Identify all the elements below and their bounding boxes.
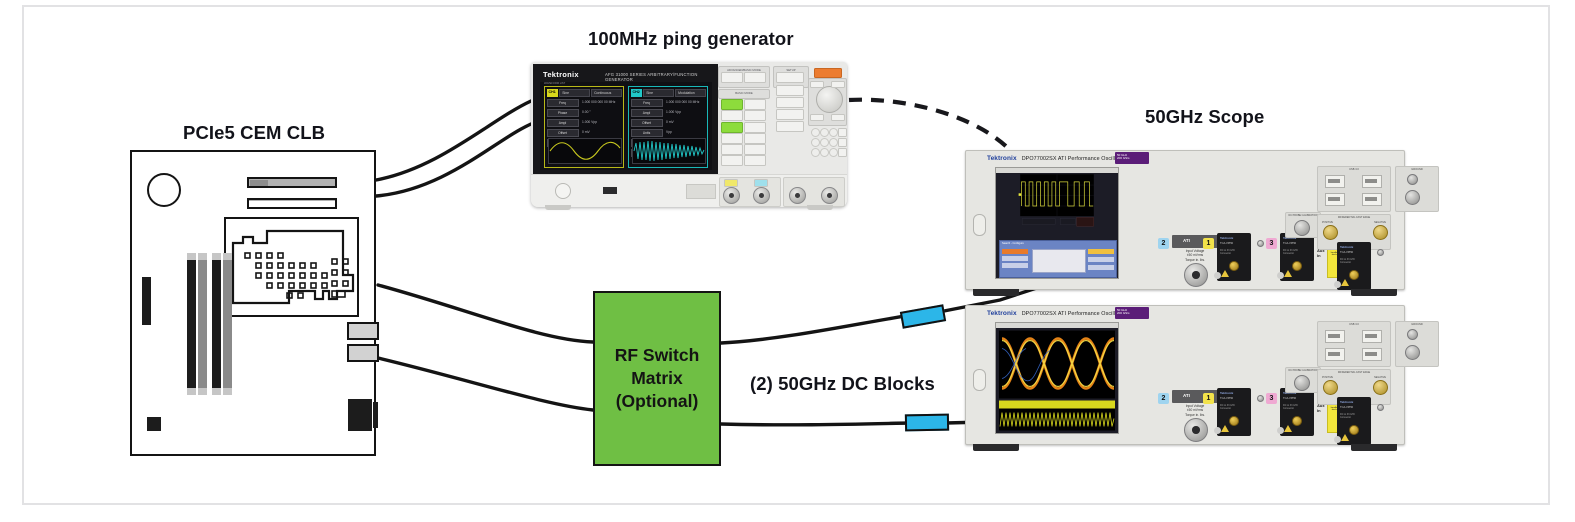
dc-block-lower (905, 414, 949, 432)
afg-button-help[interactable] (776, 121, 804, 132)
afg-button-amplitude[interactable] (744, 155, 766, 166)
scope-lower-probe-ch3[interactable]: TektronixTCA-VPI50 DC to 33 GHzConnector (1280, 388, 1314, 436)
afg-ch2-offset-value[interactable]: 0 mV (664, 119, 706, 127)
scope-upper-dc-probe-cal-label: DC PROBE CALIBRATION (1286, 214, 1320, 217)
scope-upper-fast-edge-negative-jack[interactable] (1373, 225, 1388, 240)
afg-button-continuous[interactable] (721, 99, 743, 110)
afg-screen[interactable]: WAVEFORM LIST CH1 Sine Continuous Freq1.… (540, 82, 712, 170)
chip-die-pads (231, 227, 355, 311)
afg-button-route-off[interactable] (776, 97, 804, 108)
afg-button-knob-dn-right[interactable] (831, 114, 845, 121)
afg-button-square[interactable] (744, 122, 766, 133)
afg-button-pulse[interactable] (744, 133, 766, 144)
afg-keypad-1[interactable] (811, 128, 820, 137)
scope-lower-fast-edge-positive-label: POSITIVE (1322, 376, 1333, 379)
afg-foot-left (545, 205, 571, 210)
afg-group-basic-mode-label: BASIC MODE (719, 91, 769, 95)
scope-lower-usb-label: USB 3.0 (1318, 323, 1390, 326)
afg-ch2-units-value[interactable]: Vpp (664, 129, 706, 137)
scope-upper-probe-ch3[interactable]: TektronixTCA-VPI50 DC to 33 GHzConnector (1280, 233, 1314, 281)
chip-outline (224, 217, 359, 317)
scope-lower-brand: Tektronix (987, 310, 1017, 317)
scope-upper[interactable]: Tektronix DPO77002SX ATI Performance Osc… (965, 150, 1405, 290)
scope-upper-probe-aux[interactable]: TektronixTCA-VPI50 DC to 33 GHzConnector (1337, 242, 1371, 290)
scope-lower-fast-edge-positive-jack[interactable] (1323, 380, 1338, 395)
scope-upper-ati-label: ATI (1183, 238, 1190, 243)
scope-lower-channel-3-marker[interactable]: 3 (1266, 393, 1277, 404)
scope-upper-ground-group: GROUND (1395, 166, 1439, 212)
afg-ch2-waveform-preview (632, 138, 706, 164)
scope-upper-dot-1 (1257, 240, 1264, 247)
afg-keypad-5[interactable] (820, 138, 829, 147)
scope-lower-probe-ch1[interactable]: TektronixTCA-VPI50 DC to 33 GHzConnector (1217, 388, 1251, 436)
scope-upper-setup-dialog[interactable]: Search - Configure (999, 240, 1117, 278)
scope-upper-probe-ch1[interactable]: TektronixTCA-VPI50 DC to 33 GHzConnector (1217, 233, 1251, 281)
cable-rf-to-scope-upper (721, 316, 905, 343)
afg-ch1-offset-key: Offset (547, 129, 579, 137)
afg-button-trigger[interactable] (814, 68, 842, 78)
edge-connector-left (142, 277, 151, 325)
afg-ch1-freq-value[interactable]: 1.000 000 000 00 MHz (580, 99, 622, 107)
dimm-module-1 (187, 260, 196, 388)
rf-switch-line2: Matrix (631, 367, 683, 390)
afg-group-basic-mode: BASIC MODE (718, 89, 770, 99)
scope-upper-ground-jack-1[interactable] (1407, 174, 1418, 185)
afg-ch2-freq-key: Freq (631, 99, 663, 107)
scope-lower-ground-group: GROUND (1395, 321, 1439, 367)
afg-button-back[interactable] (838, 138, 847, 147)
scope-upper-usb-group: USB 3.0 (1317, 166, 1391, 212)
scope-upper-brand: Tektronix (987, 155, 1017, 162)
rf-switch-matrix-box[interactable]: RF Switch Matrix (Optional) (593, 291, 721, 466)
scope-upper-usb-port-2[interactable] (1362, 175, 1382, 188)
afg-keypad-7[interactable] (811, 148, 820, 157)
scope-lower-ati-caption: Input Voltage ±50 mVrms Torque in. lbs. (1172, 404, 1218, 417)
scope-lower-aux-in-label: AuxIn (1317, 404, 1325, 414)
afg-ch2-ampl-value[interactable]: 1.000 Vpp (664, 109, 706, 117)
afg-display-bezel: Tektronix AFG 31000 SERIES ARBITRARY/FUN… (533, 64, 718, 174)
afg-ch2-ampl-key: Ampl (631, 109, 663, 117)
cable-rf-to-scope-lower (721, 423, 908, 425)
afg-channel-2-panel[interactable]: CH2 Sine Modulation Freq1.000 000 000 00… (628, 86, 708, 168)
afg-keypad-6[interactable] (829, 138, 838, 147)
scope-upper-fast-edge-negative-label: NEGATIVE (1374, 221, 1386, 224)
afg-button-sine[interactable] (721, 122, 743, 133)
afg-ch1-offset-value[interactable]: 0 mV (580, 129, 622, 137)
afg-button-knob-up-right[interactable] (831, 81, 845, 88)
afg-button-knob-up-left[interactable] (810, 81, 824, 88)
scope-upper-usb-label: USB 3.0 (1318, 168, 1390, 171)
scope-upper-fast-edge-positive-jack[interactable] (1323, 225, 1338, 240)
afg-model-label: AFG 31000 SERIES ARBITRARY/FUNCTION GENE… (605, 72, 718, 82)
scope-lower-power-button[interactable] (973, 369, 986, 391)
afg-usb-port[interactable] (603, 187, 617, 194)
sma-port-1[interactable] (347, 322, 379, 340)
sma-port-2[interactable] (347, 344, 379, 362)
scope-lower-ati-line3: Torque in. lbs. (1185, 413, 1205, 417)
afg-button-run[interactable] (744, 72, 766, 83)
afg-ch2-tag: CH2 (631, 89, 642, 97)
scope-lower-header: Tektronix DPO77002SX ATI Performance Osc… (987, 308, 1133, 319)
dimm-module-3 (212, 260, 221, 388)
scope-upper-usb-port-3[interactable] (1325, 193, 1345, 206)
afg-channel-1-panel[interactable]: CH1 Sine Continuous Freq1.000 000 000 00… (544, 86, 624, 168)
rf-switch-line3: (Optional) (616, 390, 699, 413)
afg-power-button[interactable] (555, 183, 571, 199)
component-square (147, 417, 161, 431)
scope-lower-channel-2-marker[interactable]: 2 (1158, 393, 1169, 404)
scope-lower-usb-port-1[interactable] (1325, 330, 1345, 343)
afg-ch1-function[interactable]: Sine (559, 89, 589, 97)
scope-lower-dc-probe-cal-label: DC PROBE CALIBRATION (1286, 369, 1320, 372)
afg-brand-label: Tektronix (543, 70, 579, 79)
scope-upper-power-button[interactable] (973, 214, 986, 236)
rf-switch-line1: RF Switch (615, 344, 700, 367)
scope-upper-ati-line3: Torque in. lbs. (1185, 258, 1205, 262)
afg-button-utility[interactable] (776, 109, 804, 120)
afg-keypad-8[interactable] (820, 148, 829, 157)
rear-io-block (348, 399, 372, 431)
scope-lower-dc-probe-cal-jack[interactable] (1294, 375, 1310, 391)
afg-button-trigger-basic[interactable] (721, 155, 743, 166)
scope-lower-fast-edge-negative-jack[interactable] (1373, 380, 1388, 395)
scope-upper-ati-input-connector[interactable] (1184, 263, 1208, 287)
cable-clb-to-afg-ch2 (376, 124, 531, 196)
afg-foot-right (807, 205, 833, 210)
afg-button-noise[interactable] (744, 144, 766, 155)
afg-ch1-mode[interactable]: Continuous (591, 89, 621, 97)
scope-lower-ground-label: GROUND (1396, 323, 1438, 326)
scope-lower-dot-1 (1257, 395, 1264, 402)
cable-clb-to-rf-2 (378, 358, 593, 410)
scope-upper-channel-2-marker[interactable]: 2 (1158, 238, 1169, 249)
scope-upper-aux-in-label: AuxIn (1317, 249, 1325, 259)
scope-upper-waveform (996, 173, 1118, 239)
scope-upper-dot-3 (1377, 249, 1384, 256)
afg-button-burst[interactable] (744, 110, 766, 121)
afg-model-plate (686, 184, 716, 199)
scope-lower-usb-port-2[interactable] (1362, 330, 1382, 343)
scope-upper-ati-caption: Input Voltage ±50 mVrms Torque in. lbs. (1172, 249, 1218, 262)
afg-bnc-ext-trig-in[interactable] (789, 187, 806, 204)
afg-ch1-output-enable[interactable] (724, 179, 738, 187)
scope-upper-ground-label: GROUND (1396, 168, 1438, 171)
scope-upper-display[interactable]: Search - Configure (995, 167, 1119, 279)
scope-lower-foot-left (973, 444, 1019, 451)
afg-ch2-function[interactable]: Sine (643, 89, 673, 97)
afg-keypad-3[interactable] (829, 128, 838, 137)
scope-upper-fast-edge-label: DIFFERENTIAL FAST EDGE (1318, 216, 1390, 219)
afg-button-sweep[interactable] (721, 110, 743, 121)
scope-upper-header: Tektronix DPO77002SX ATI Performance Osc… (987, 153, 1133, 164)
scope-upper-dc-probe-cal-jack[interactable] (1294, 220, 1310, 236)
afg-31000-function-generator[interactable]: Tektronix AFG 31000 SERIES ARBITRARY/FUN… (531, 62, 847, 207)
dimm-module-4 (223, 260, 232, 388)
scope-upper-fast-edge-positive-label: POSITIVE (1322, 221, 1333, 224)
scope-lower-channel-1-marker[interactable]: 1 (1203, 393, 1214, 404)
scope-lower-display[interactable] (995, 322, 1119, 434)
scope-upper-channel-1-marker[interactable]: 1 (1203, 238, 1214, 249)
scope-upper-channel-3-marker[interactable]: 3 (1266, 238, 1277, 249)
scope-lower[interactable]: Tektronix DPO77002SX ATI Performance Osc… (965, 305, 1405, 445)
cable-clb-to-afg-ch1 (376, 101, 531, 180)
afg-ch2-freq-value[interactable]: 1.000 000 000 00 MHz (664, 99, 706, 107)
mounting-hole (147, 173, 181, 207)
scope-upper-badge: 50 GHz200 GS/s (1115, 152, 1149, 164)
afg-button-sample-rate[interactable] (721, 72, 743, 83)
pcie-slot-bottom-key (249, 201, 335, 207)
scope-lower-ground-jack-2[interactable] (1405, 345, 1420, 360)
afg-ch2-output-enable[interactable] (754, 179, 768, 187)
afg-key-panel[interactable]: ADVANCED/BASIC MODE SETUP BASIC MODE (718, 64, 845, 174)
afg-keypad-4[interactable] (811, 138, 820, 147)
scope-lower-ground-jack-1[interactable] (1407, 329, 1418, 340)
cable-afg-to-scope-trigger (849, 100, 1010, 150)
afg-ch2-units-key: Units (631, 129, 663, 137)
afg-button-save-recall[interactable] (776, 85, 804, 96)
afg-button-enter[interactable] (838, 148, 847, 157)
pcie-slot-top-key (250, 180, 268, 186)
rear-io-tab (373, 402, 378, 428)
afg-front-base (531, 174, 847, 207)
afg-rotary-knob[interactable] (816, 86, 843, 113)
scope-upper-foot-left (973, 289, 1019, 296)
afg-keypad-9[interactable] (829, 148, 838, 157)
diagram-canvas: 100MHz ping generator PCIe5 CEM CLB 50GH… (0, 0, 1575, 522)
afg-keypad-2[interactable] (820, 128, 829, 137)
scope-lower-dot-3 (1377, 404, 1384, 411)
afg-ch1-waveform-preview (548, 138, 622, 164)
scope-lower-usb-port-3[interactable] (1325, 348, 1345, 361)
scope-upper-ground-jack-2[interactable] (1405, 190, 1420, 205)
scope-lower-eye-diagram (996, 328, 1118, 433)
scope-lower-probe-aux[interactable]: TektronixTCA-VPI50 DC to 33 GHzConnector (1337, 397, 1371, 445)
afg-bnc-ch2-output[interactable] (753, 187, 770, 204)
afg-ch2-mode[interactable]: Modulation (675, 89, 705, 97)
afg-button-ramp[interactable] (721, 133, 743, 144)
dimm-module-2 (198, 260, 207, 388)
afg-ch2-offset-key: Offset (631, 119, 663, 127)
scope-upper-usb-port-4[interactable] (1362, 193, 1382, 206)
afg-ch1-tag: CH1 (547, 89, 558, 97)
afg-ch1-phase-key: Phase (547, 109, 579, 117)
scope-lower-badge: 50 GHz200 GS/s (1115, 307, 1149, 319)
afg-button-arb[interactable] (721, 144, 743, 155)
afg-bnc-trig-out[interactable] (821, 187, 838, 204)
pcie5-cem-clb-board[interactable] (130, 150, 376, 456)
scope-lower-ati-input-connector[interactable] (1184, 418, 1208, 442)
afg-button-knob-dn-left[interactable] (810, 114, 824, 121)
scope-lower-usb-group: USB 3.0 (1317, 321, 1391, 367)
afg-button-cancel[interactable] (838, 128, 847, 137)
afg-ch1-ampl-value[interactable]: 1.000 Vpp (580, 119, 622, 127)
scope-lower-fast-edge-negative-label: NEGATIVE (1374, 376, 1386, 379)
afg-ch1-phase-value[interactable]: 0.00 ° (580, 109, 622, 117)
scope-lower-foot-right (1351, 444, 1397, 451)
scope-lower-usb-port-4[interactable] (1362, 348, 1382, 361)
afg-waveform-list-label: WAVEFORM LIST (544, 82, 565, 85)
afg-button-modulation[interactable] (744, 99, 766, 110)
scope-lower-ati-label: ATI (1183, 393, 1190, 398)
afg-ch1-freq-key: Freq (547, 99, 579, 107)
cable-clb-to-rf-1 (378, 285, 593, 342)
scope-upper-foot-right (1351, 289, 1397, 296)
scope-lower-fast-edge-label: DIFFERENTIAL FAST EDGE (1318, 371, 1390, 374)
scope-upper-usb-port-1[interactable] (1325, 175, 1345, 188)
afg-button-default[interactable] (776, 72, 804, 83)
afg-bnc-ch1-output[interactable] (723, 187, 740, 204)
afg-ch1-ampl-key: Ampl (547, 119, 579, 127)
